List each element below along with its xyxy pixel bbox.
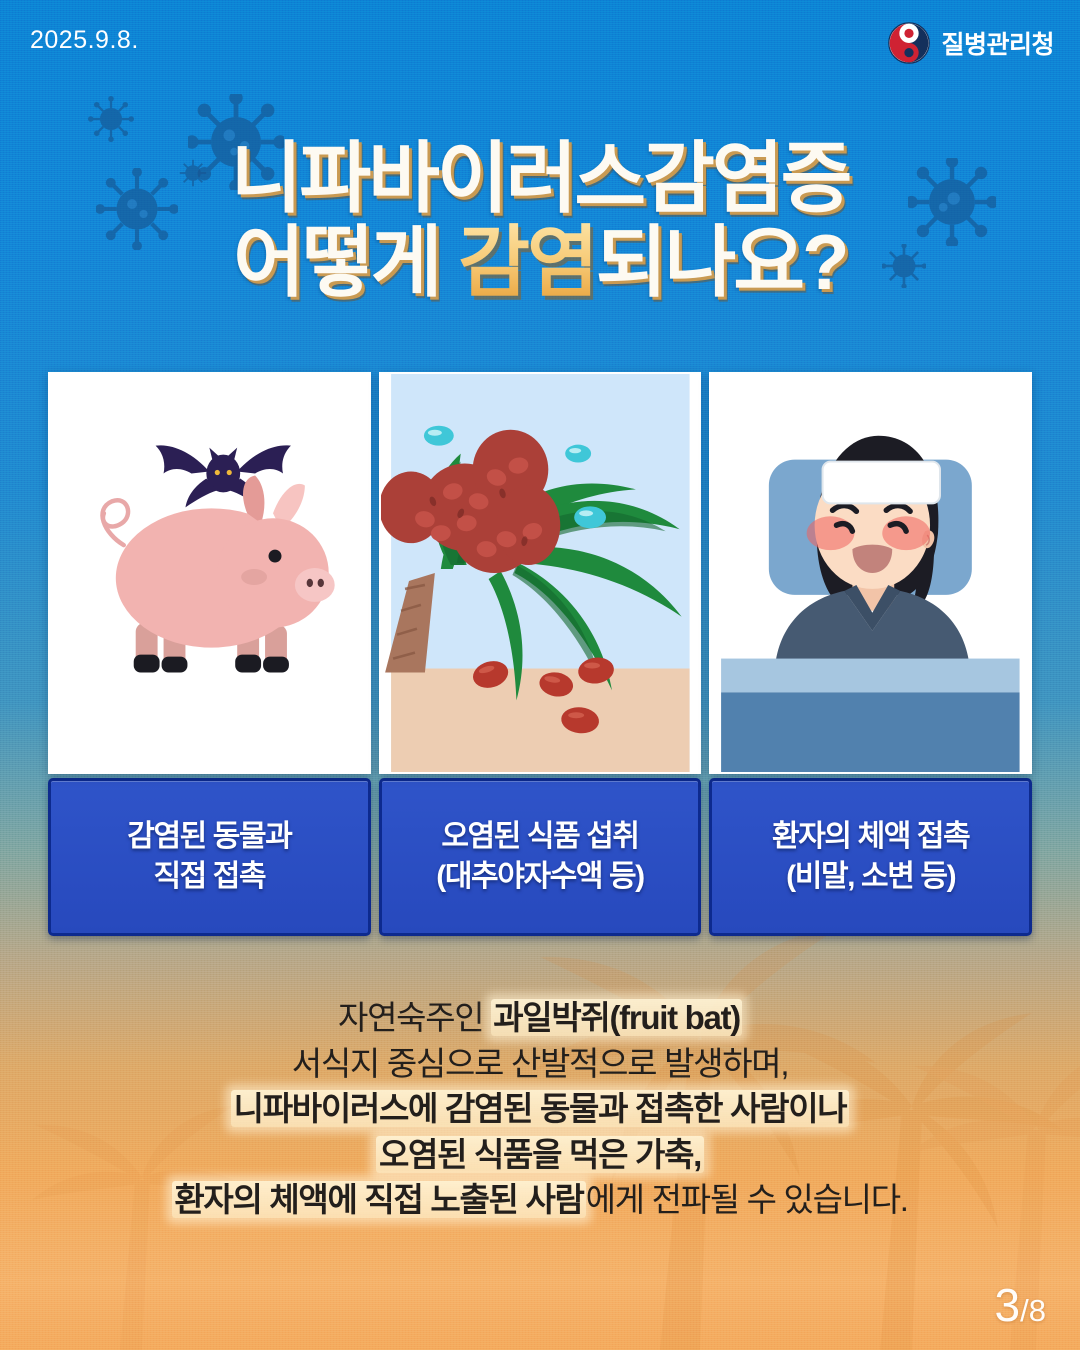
title-block: 니파바이러스감염증 어떻게 감염되나요? xyxy=(0,140,1080,301)
transmission-caption-3-text: 환자의 체액 접촉 (비말, 소변 등) xyxy=(772,817,969,897)
title-line2-highlight: 감염 xyxy=(458,218,596,306)
description-line-5: 환자의 체액에 직접 노출된 사람에게 전파될 수 있습니다. xyxy=(0,1177,1080,1223)
description-block: 자연숙주인 과일박쥐(fruit bat) 서식지 중심으로 산발적으로 발생하… xyxy=(0,995,1080,1223)
title-line-2: 어떻게 감염되나요? xyxy=(0,224,1080,300)
title-line2-suffix: 되나요? xyxy=(596,218,847,306)
description-line-1: 자연숙주인 과일박쥐(fruit bat) xyxy=(0,995,1080,1041)
description-line-1-prefix: 자연숙주인 xyxy=(338,999,491,1036)
agency-name: 질병관리청 xyxy=(941,25,1054,61)
page-total: /8 xyxy=(1020,1295,1046,1326)
transmission-caption-2: 오염된 식품 섭취 (대추야자수액 등) xyxy=(379,778,702,936)
description-line-3: 니파바이러스에 감염된 동물과 접촉한 사람이나 xyxy=(0,1086,1080,1132)
publish-date: 2025.9.8. xyxy=(30,26,139,55)
description-line-4-emphasis: 오염된 식품을 먹은 가축, xyxy=(376,1136,704,1173)
title-line2-prefix: 어떻게 xyxy=(233,218,458,306)
description-line-3-emphasis: 니파바이러스에 감염된 동물과 접촉한 사람이나 xyxy=(231,1090,850,1127)
korea-government-taegeuk-icon xyxy=(888,22,930,64)
description-line-5-emphasis: 환자의 체액에 직접 노출된 사람 xyxy=(172,1181,585,1218)
transmission-caption-1: 감염된 동물과 직접 접촉 xyxy=(48,778,371,936)
transmission-route-panels: 감염된 동물과 직접 접촉 xyxy=(48,372,1032,936)
description-line-5-suffix: 에게 전파될 수 있습니다. xyxy=(586,1181,908,1218)
title-line-1: 니파바이러스감염증 xyxy=(0,140,1080,216)
page-indicator: 3 /8 xyxy=(995,1282,1046,1328)
description-line-2: 서식지 중심으로 산발적으로 발생하며, xyxy=(0,1041,1080,1087)
transmission-caption-3: 환자의 체액 접촉 (비말, 소변 등) xyxy=(709,778,1032,936)
transmission-caption-1-text: 감염된 동물과 직접 접촉 xyxy=(127,817,291,897)
header: 2025.9.8. 질병관리청 xyxy=(0,0,1080,86)
description-line-1-emphasis: 과일박쥐(fruit bat) xyxy=(491,999,742,1036)
page-current: 3 xyxy=(995,1282,1021,1328)
transmission-panel-animal-contact[interactable]: 감염된 동물과 직접 접촉 xyxy=(48,372,371,936)
date-palm-tree-illustration xyxy=(379,372,702,774)
virus-particle-icon xyxy=(88,96,134,142)
transmission-caption-2-text: 오염된 식품 섭취 (대추야자수액 등) xyxy=(436,817,644,897)
agency-brand: 질병관리청 xyxy=(888,22,1054,64)
sick-patient-in-bed-illustration xyxy=(709,372,1032,774)
transmission-panel-contaminated-food[interactable]: 오염된 식품 섭취 (대추야자수액 등) xyxy=(379,372,702,936)
description-line-4: 오염된 식품을 먹은 가축, xyxy=(0,1132,1080,1178)
cooling-patch-icon xyxy=(823,462,940,504)
transmission-panel-body-fluid[interactable]: 환자의 체액 접촉 (비말, 소변 등) xyxy=(709,372,1032,936)
pig-and-bat-illustration xyxy=(48,372,371,774)
